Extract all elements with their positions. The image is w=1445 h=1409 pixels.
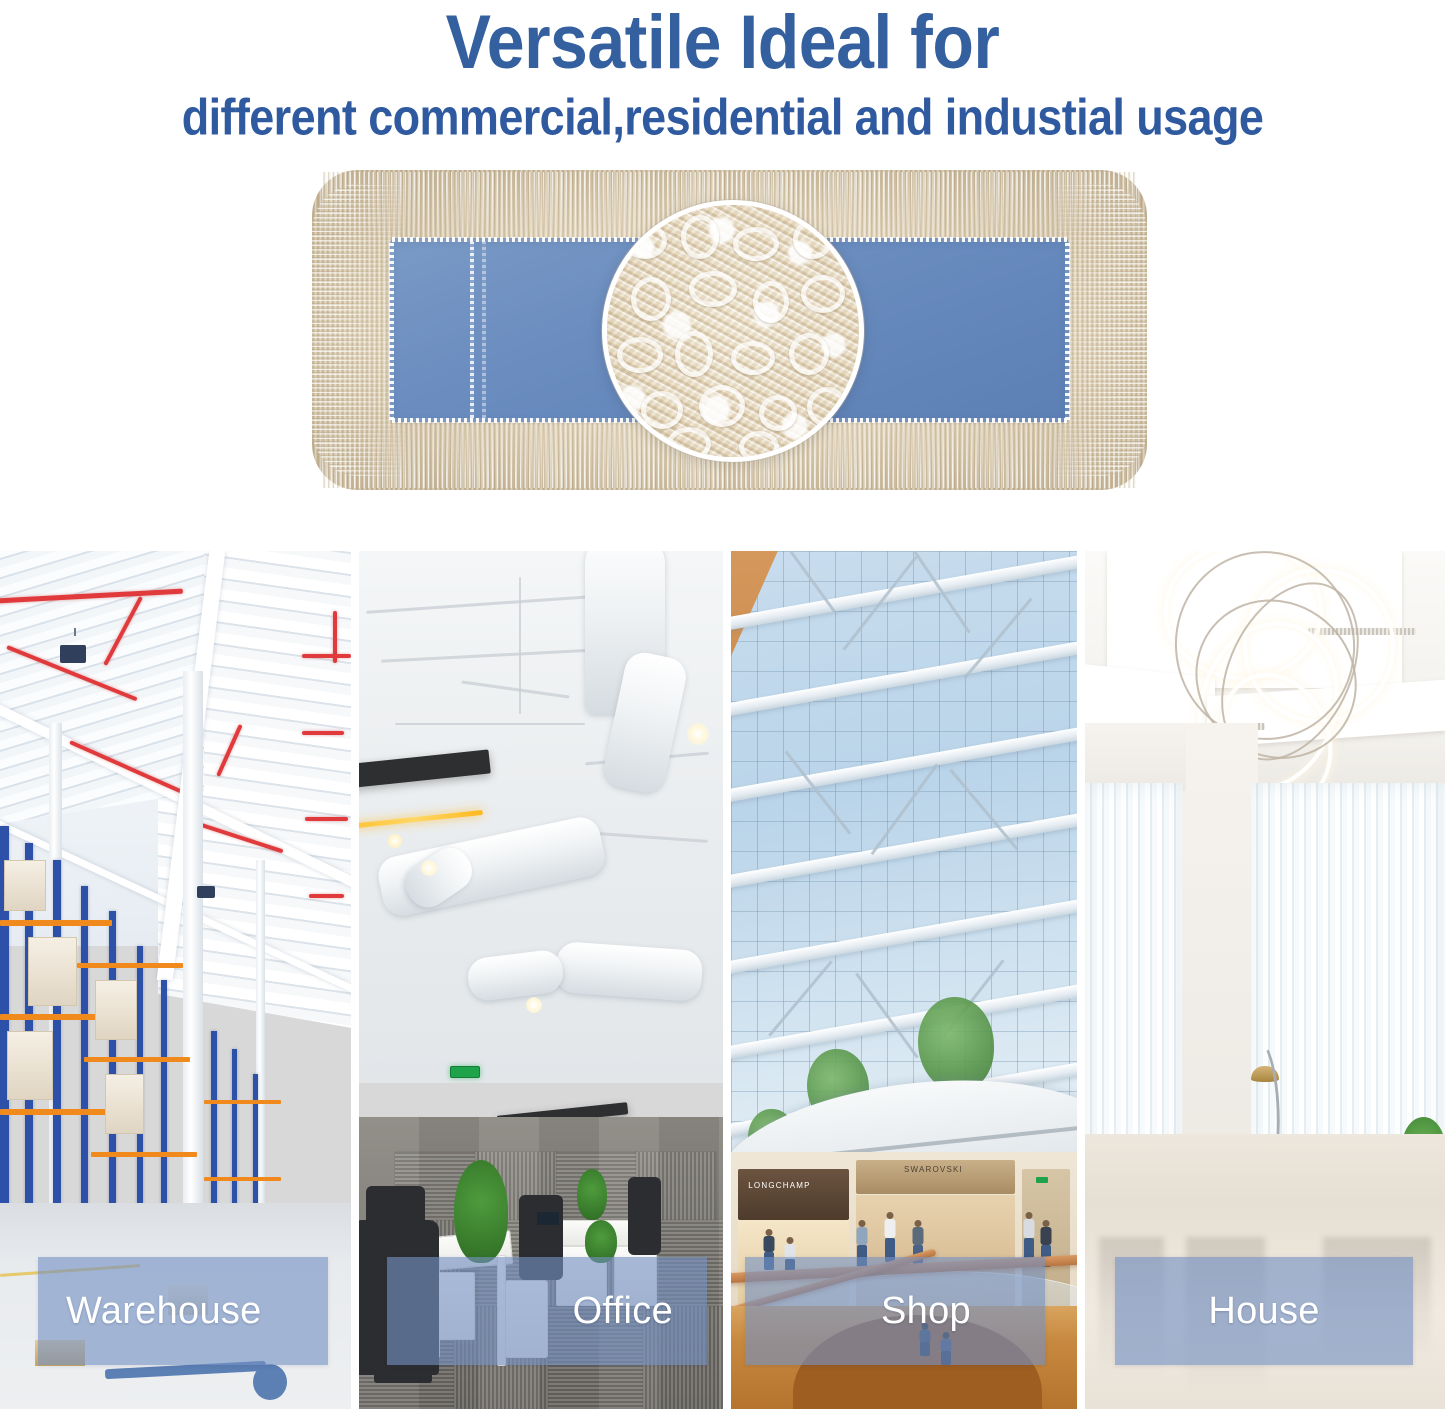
stitch-left [389,240,394,420]
panel-label-office: Office [573,1292,707,1330]
storefront-sign-longchamp: LONGCHAMP [748,1181,810,1190]
label-chip-warehouse: Warehouse [38,1257,328,1365]
panel-label-warehouse: Warehouse [38,1292,262,1330]
cotton-dust-mop-pad [312,170,1147,490]
yarn-closeup-inset [602,200,864,462]
hero-product-image [0,162,1445,507]
label-chip-house: House [1115,1257,1413,1365]
panel-label-shop: Shop [819,1292,971,1330]
scene-panel-warehouse[interactable]: Warehouse [0,551,351,1409]
page-subtitle: different commercial,residential and ind… [0,90,1445,144]
scene-panel-office[interactable]: Office [359,551,723,1409]
stitch-right [1065,240,1070,420]
scene-panel-house[interactable]: House [1085,551,1445,1409]
label-chip-shop: Shop [745,1257,1045,1365]
seam-line-a [470,242,474,418]
scene-panel-shop[interactable]: LONGCHAMP SWAROVSKI [731,551,1077,1409]
header: Versatile Ideal for different commercial… [0,0,1445,138]
seam-line-b [482,242,486,418]
panel-label-house: House [1208,1292,1319,1330]
storefront-sign-swarovski: SWAROVSKI [904,1165,963,1174]
yarn-loops [607,205,859,457]
application-scenes-strip: Warehouse [0,551,1445,1409]
label-chip-office: Office [387,1257,707,1365]
page-title: Versatile Ideal for [0,4,1445,82]
